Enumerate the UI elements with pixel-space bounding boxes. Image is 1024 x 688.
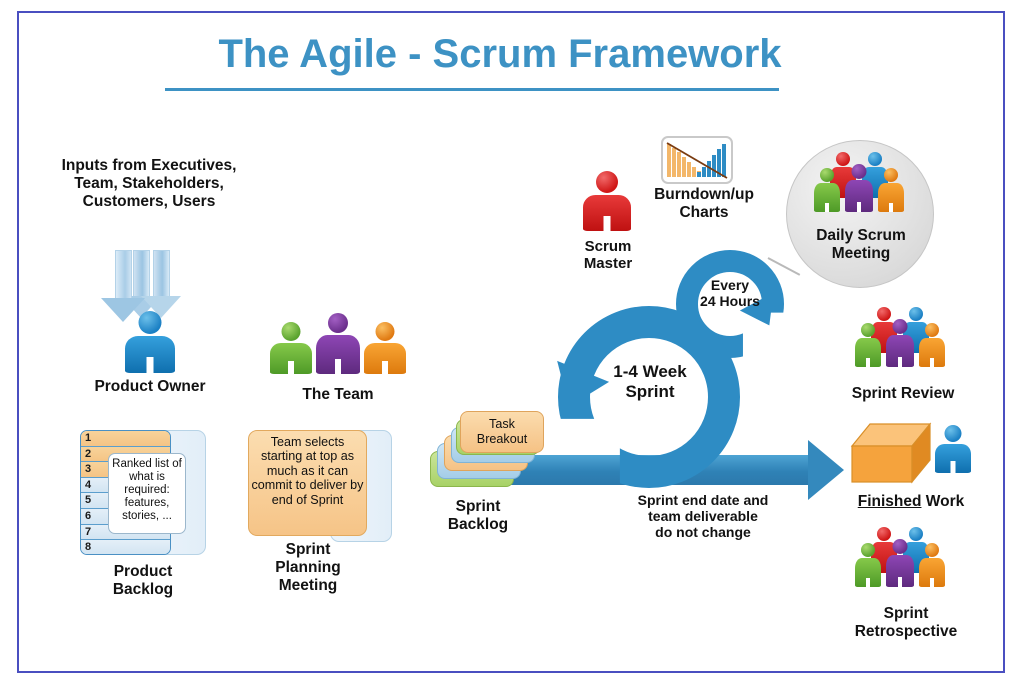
- product-backlog-label-line1: Product: [78, 563, 208, 581]
- product-backlog-label-line2: Backlog: [78, 581, 208, 599]
- sprint-review-label: Sprint Review: [832, 385, 974, 403]
- burndown-charts-label: Burndown/up Charts: [630, 186, 778, 222]
- sprint-flow-arrow-head: [808, 440, 844, 500]
- task-breakout-line2: Breakout: [477, 432, 527, 446]
- group-person-green: [855, 323, 881, 367]
- burndown-chart-svg: [663, 138, 731, 182]
- inputs-label: Inputs from Executives, Team, Stakeholde…: [44, 157, 254, 211]
- sprint-review-group-icon: [853, 307, 951, 377]
- sprint-arrow-note: Sprint end date and team deliverable do …: [588, 492, 818, 541]
- product-backlog-label: Product Backlog: [78, 563, 208, 599]
- sprint-cycle-label: 1-4 Week Sprint: [597, 362, 703, 401]
- sprint-arrow-note-line2: team deliverable: [588, 508, 818, 524]
- backlog-row[interactable]: 8: [81, 540, 170, 555]
- group-person-green: [814, 168, 840, 212]
- task-breakout-line1: Task: [489, 417, 515, 431]
- scrum-master-label-line2: Master: [560, 255, 656, 272]
- scrum-master-icon: [582, 171, 632, 231]
- team-member-green-icon: [270, 322, 312, 374]
- sprint-cycle-label-line1: 1-4 Week: [597, 362, 703, 382]
- group-person-purple: [845, 164, 873, 212]
- daily-scrum-label: Daily Scrum Meeting: [792, 227, 930, 263]
- scrum-master-label: Scrum Master: [560, 238, 656, 273]
- sprint-planning-label-line3: Meeting: [245, 577, 371, 595]
- product-owner-label: Product Owner: [72, 378, 228, 396]
- group-person-orange: [878, 168, 904, 212]
- title-underline: [165, 88, 779, 91]
- team-member-purple-icon: [316, 313, 360, 374]
- daily-scrum-group-icon: [812, 152, 910, 222]
- inputs-label-line1: Inputs from Executives,: [44, 157, 254, 175]
- sprint-backlog-label-line2: Backlog: [418, 516, 538, 534]
- group-person-green: [855, 543, 881, 587]
- sprint-retrospective-label-line1: Sprint: [828, 605, 984, 623]
- burndown-label-line1: Burndown/up: [630, 186, 778, 204]
- bar-chart-icon: [661, 136, 733, 184]
- finished-work-label: Finished Work: [836, 493, 986, 511]
- daily-scrum-label-line2: Meeting: [792, 245, 930, 263]
- product-backlog-callout: Ranked list of what is required: feature…: [108, 453, 186, 534]
- sprint-cycle-label-line2: Sprint: [597, 382, 703, 402]
- inputs-label-line3: Customers, Users: [44, 193, 254, 211]
- team-label: The Team: [258, 386, 418, 404]
- sprint-arrow-note-line1: Sprint end date and: [588, 492, 818, 508]
- sprint-arrow-note-line3: do not change: [588, 524, 818, 540]
- daily-cycle-label-line2: 24 Hours: [686, 293, 774, 309]
- finished-work-underlined: Finished: [858, 493, 922, 510]
- finished-work-person-icon: [935, 425, 971, 473]
- sprint-planning-label: Sprint Planning Meeting: [245, 541, 371, 595]
- burndown-label-line2: Charts: [630, 204, 778, 222]
- team-member-orange-icon: [364, 322, 406, 374]
- daily-cycle-label-line1: Every: [686, 277, 774, 293]
- daily-cycle-label: Every 24 Hours: [686, 277, 774, 309]
- down-arrows-icon: [105, 250, 205, 318]
- sprint-backlog-label: Sprint Backlog: [418, 498, 538, 534]
- scrum-framework-diagram: The Agile - Scrum Framework Inputs from …: [0, 0, 1024, 688]
- product-owner-icon: [124, 311, 176, 373]
- page-title: The Agile - Scrum Framework: [120, 32, 880, 77]
- 3d-box-icon: [846, 418, 932, 490]
- backlog-row[interactable]: 1: [81, 431, 170, 447]
- group-person-orange: [919, 543, 945, 587]
- group-person-orange: [919, 323, 945, 367]
- sprint-retrospective-label-line2: Retrospective: [828, 623, 984, 641]
- sprint-planning-label-line1: Sprint: [245, 541, 371, 559]
- group-person-purple: [886, 319, 914, 367]
- sprint-retrospective-group-icon: [853, 527, 951, 597]
- sprint-planning-label-line2: Planning: [245, 559, 371, 577]
- sprint-planning-box[interactable]: Team selects starting at top as much as …: [248, 430, 367, 536]
- sprint-backlog-label-line1: Sprint: [418, 498, 538, 516]
- task-breakout-card[interactable]: Task Breakout: [460, 411, 544, 453]
- scrum-master-label-line1: Scrum: [560, 238, 656, 255]
- group-person-purple: [886, 539, 914, 587]
- daily-scrum-label-line1: Daily Scrum: [792, 227, 930, 245]
- finished-work-rest: Work: [921, 493, 964, 510]
- sprint-retrospective-label: Sprint Retrospective: [828, 605, 984, 641]
- inputs-label-line2: Team, Stakeholders,: [44, 175, 254, 193]
